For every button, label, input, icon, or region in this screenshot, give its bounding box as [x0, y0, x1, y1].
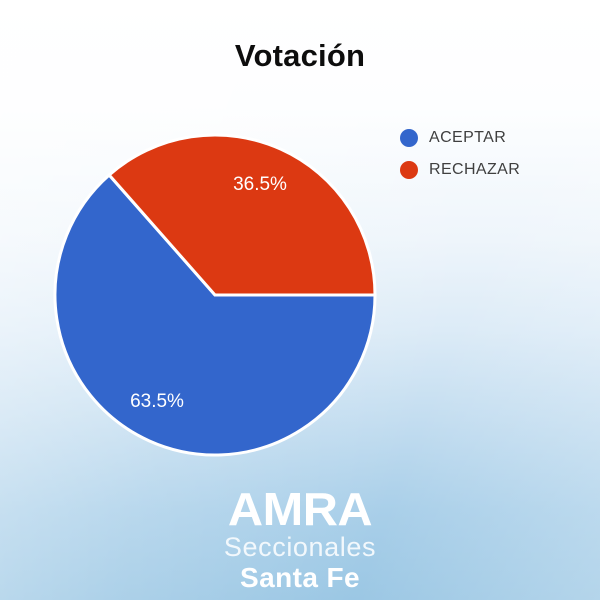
legend-item-rechazar[interactable]: RECHAZAR: [400, 154, 520, 186]
legend-label-rechazar: RECHAZAR: [429, 161, 520, 179]
pie-chart-svg: 36.5% 63.5%: [55, 135, 375, 455]
chart-legend: ACEPTAR RECHAZAR: [400, 122, 520, 186]
pie-slice-label-rechazar: 36.5%: [233, 174, 287, 195]
logo-region-text: Santa Fe: [0, 564, 600, 592]
brand-logo: AMRA Seccionales Santa Fe: [0, 486, 600, 592]
logo-brand-text: AMRA: [0, 486, 600, 532]
logo-subtitle-text: Seccionales: [0, 534, 600, 561]
circle-marker-red-icon: [400, 161, 418, 179]
chart-canvas: Votación 36.5% 63.5% ACEPTAR RECHAZAR AM…: [0, 0, 600, 600]
page-title: Votación: [0, 38, 600, 74]
legend-label-aceptar: ACEPTAR: [429, 129, 506, 147]
pie-slice-label-aceptar: 63.5%: [130, 391, 184, 412]
legend-item-aceptar[interactable]: ACEPTAR: [400, 122, 520, 154]
circle-marker-blue-icon: [400, 129, 418, 147]
pie-chart: 36.5% 63.5%: [55, 135, 375, 455]
